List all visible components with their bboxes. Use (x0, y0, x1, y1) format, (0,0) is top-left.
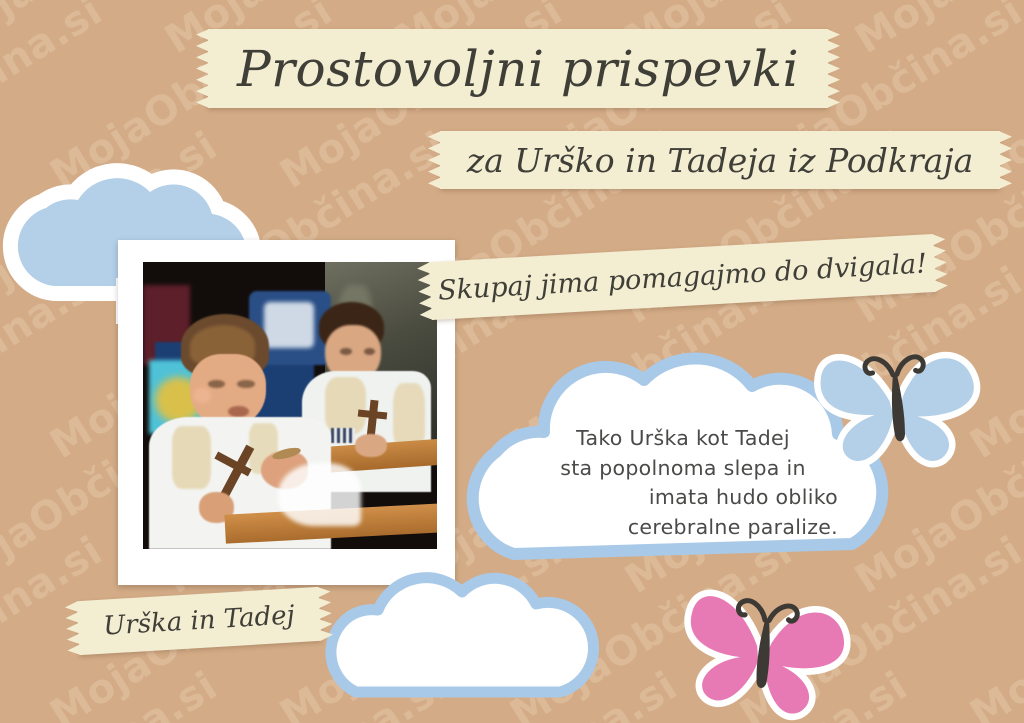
poster-subtitle: za Urško in Tadeja iz Podkraja (467, 144, 974, 177)
poster-title: Prostovoljni prispevki (237, 44, 799, 94)
cloud-message-text: Tako Urška kot Tadej sta popolnoma slepa… (528, 424, 838, 543)
watermark-text: MojaObčina.si (962, 528, 1024, 723)
banner-right-edge (999, 131, 1012, 189)
pink-butterfly-icon (671, 574, 866, 723)
photo-image (143, 262, 437, 549)
banner-left-edge (196, 29, 209, 108)
banner-right-edge (932, 233, 948, 292)
cloud-message-line-1: Tako Urška kot Tadej (528, 424, 838, 454)
poster-canvas: MojaObčina.siMojaObčina.siMojaObčina.siM… (0, 0, 1024, 723)
blue-butterfly-icon (805, 325, 999, 483)
call-to-action-text: Skupaj jima pomagajmo do dvigala! (437, 250, 927, 304)
banner-left-edge (417, 262, 433, 321)
watermark-text: MojaObčina.si (847, 663, 1024, 723)
cloud-message-line-3: imata hudo obliko (528, 483, 838, 513)
subtitle-banner: za Urško in Tadeja iz Podkraja (440, 131, 1000, 189)
title-banner: Prostovoljni prispevki (208, 29, 828, 108)
call-to-action-banner: Skupaj jima pomagajmo do dvigala! (429, 234, 936, 320)
banner-left-edge (65, 601, 81, 656)
banner-right-edge (827, 29, 840, 108)
watermark-text: MojaObčina.si (0, 0, 225, 63)
watermark-text: MojaObčina.si (847, 0, 1024, 63)
banner-left-edge (428, 131, 441, 189)
cloud-message-line-4: cerebralne paralize. (528, 513, 838, 543)
photo-frame (118, 240, 455, 585)
watermark-text: MojaObčina.si (0, 663, 225, 723)
photo-caption-banner: Urška in Tadej (77, 587, 322, 655)
photo-caption-text: Urška in Tadej (103, 602, 296, 639)
cloud-message-line-2: sta popolnoma slepa in (528, 454, 838, 484)
